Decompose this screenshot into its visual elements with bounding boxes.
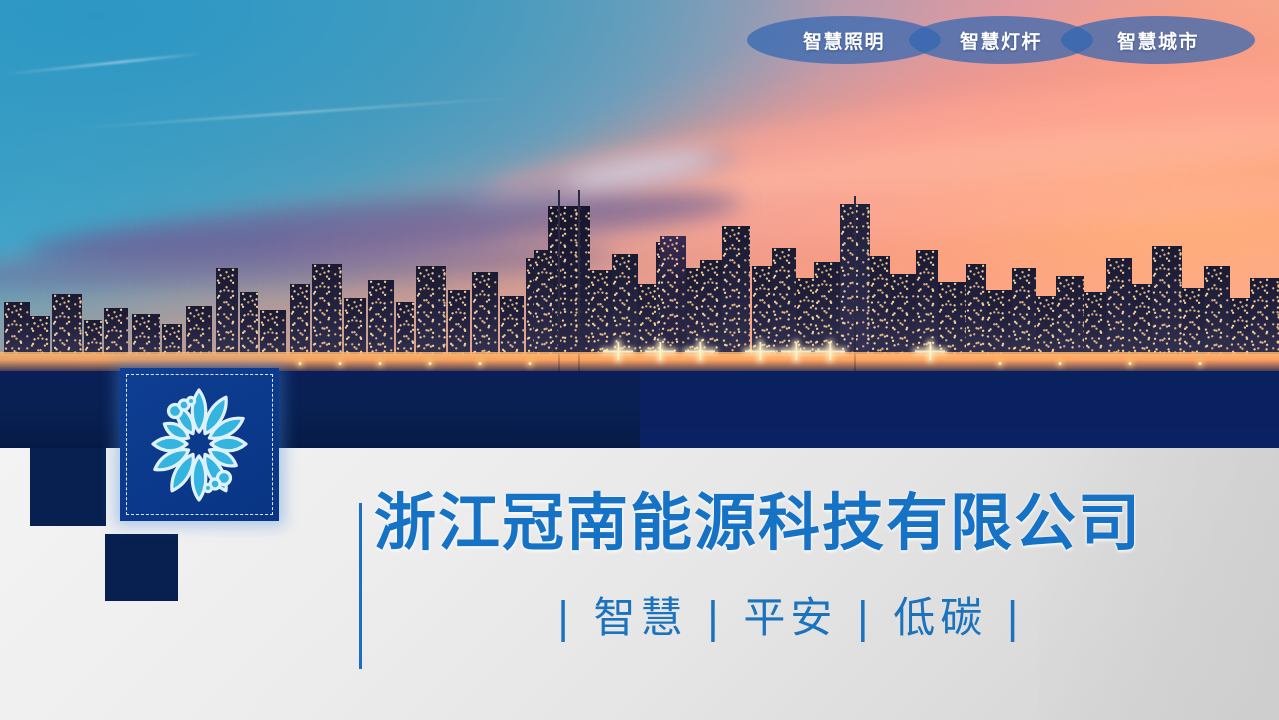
badge-label: 智慧城市	[1117, 27, 1199, 54]
company-logo[interactable]	[120, 368, 279, 521]
title-slide: 智慧照明 智慧灯杆 智慧城市	[0, 0, 1279, 720]
badge-smart-pole[interactable]: 智慧灯杆	[931, 16, 1071, 64]
page-title: 浙江冠南能源科技有限公司	[374, 492, 1142, 554]
top-nav-badges: 智慧照明 智慧灯杆 智慧城市	[769, 16, 1279, 64]
badge-smart-lighting[interactable]: 智慧照明	[769, 16, 919, 64]
badge-label: 智慧照明	[803, 27, 885, 54]
navy-band-right	[640, 371, 1279, 455]
badge-smart-city[interactable]: 智慧城市	[1083, 16, 1233, 64]
logo-dashed-border	[126, 374, 273, 515]
decorative-square-upper	[30, 448, 106, 526]
title-vertical-rule	[359, 503, 362, 669]
badge-label: 智慧灯杆	[960, 27, 1042, 54]
company-slogan: | 智慧 | 平安 | 低碳 |	[556, 597, 1025, 639]
city-skyline	[0, 142, 1279, 372]
decorative-square-lower	[105, 534, 178, 601]
